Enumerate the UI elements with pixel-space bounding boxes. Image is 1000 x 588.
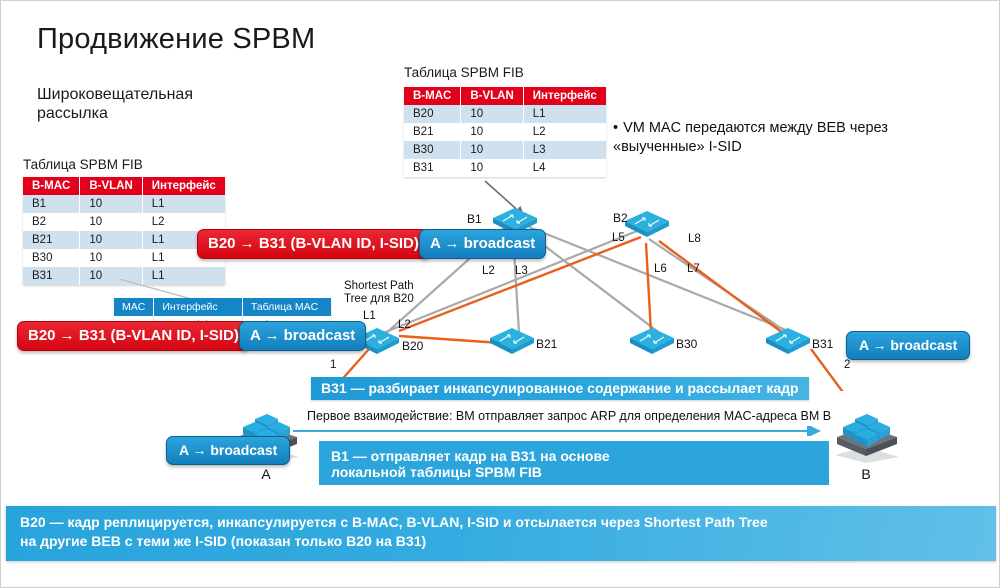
bottom-banner-line-2: на другие BEB с теми же I-SID (показан т…	[20, 532, 982, 551]
node-label-B30: B30	[676, 337, 697, 351]
node-label-B21: B21	[536, 337, 557, 351]
fib-top-header-3: Интерфейс	[523, 87, 606, 105]
table-row: B2010L1	[404, 105, 606, 123]
host-a-label: A	[229, 466, 303, 482]
arrow-a-to-b	[291, 426, 836, 436]
node-label-B1: B1	[467, 212, 482, 226]
banner-b31: B31 — разбирает инкапсулированное содерж…	[311, 377, 809, 400]
fib-top-cell-r2c3: L2	[523, 123, 606, 141]
spt-line-2: Tree для B20	[344, 293, 414, 306]
link-label-L2b: L2	[398, 319, 411, 331]
fib-top-cell-r2c1: B21	[404, 123, 461, 141]
banner-b1-line-1: B1 — отправляет кадр на B31 на основе	[331, 448, 817, 464]
host-b[interactable]: B	[829, 401, 903, 482]
table-row: B3110L4	[404, 159, 606, 177]
link-label-L7: L7	[687, 263, 700, 275]
switch-node-B21[interactable]	[488, 326, 536, 361]
fib-top-cell-r3c3: L3	[523, 141, 606, 159]
link-label-L3: L3	[515, 265, 528, 277]
callout-blue-right[interactable]: A → broadcast	[846, 331, 970, 360]
fib-table-top: B-MACB-VLANИнтерфейсB2010L1B2110L2B3010L…	[404, 87, 606, 177]
fib-top-cell-r1c1: B20	[404, 105, 461, 123]
link-label-L6: L6	[654, 263, 667, 275]
page-subtitle: Широковещательная рассылка	[37, 85, 193, 123]
fib-top-cell-r4c1: B31	[404, 159, 461, 177]
node-label-B20: B20	[402, 339, 423, 353]
table-row: B3010L3	[404, 141, 606, 159]
spt-line-1: Shortest Path	[344, 280, 414, 293]
callout-red-upper[interactable]: B20 → B31 (B-VLAN ID, I-SID)	[197, 229, 430, 259]
banner-b1: B1 — отправляет кадр на B31 на основе ло…	[319, 441, 829, 485]
bottom-banner-line-1: B20 — кадр реплицируется, инкапсулируетс…	[20, 513, 982, 532]
fib-top-cell-r4c2: 10	[461, 159, 523, 177]
table-row: B2110L2	[404, 123, 606, 141]
host-b-label: B	[829, 466, 903, 482]
shortest-path-tree-label: Shortest Path Tree для B20	[344, 280, 414, 306]
switch-node-B30[interactable]	[628, 326, 676, 361]
fib-top-header-row: B-MACB-VLANИнтерфейс	[404, 87, 606, 105]
fib-top-cell-r1c3: L1	[523, 105, 606, 123]
link-label-L2a: L2	[482, 265, 495, 277]
fib-top-cell-r3c2: 10	[461, 141, 523, 159]
fib-top-header-2: B-VLAN	[461, 87, 523, 105]
fib-top-cell-r3c1: B30	[404, 141, 461, 159]
fib-top-header-1: B-MAC	[404, 87, 461, 105]
fib-top-cell-r4c3: L4	[523, 159, 606, 177]
banner-b1-line-2: локальной таблицы SPBM FIB	[331, 464, 817, 480]
bullet-note: •VM MAC передаются между BEB через «выуч…	[613, 119, 913, 157]
bottom-banner: B20 — кадр реплицируется, инкапсулируетс…	[6, 506, 996, 561]
step-number-2: 2	[844, 359, 850, 371]
subtitle-line-1: Широковещательная	[37, 85, 193, 104]
fib-top-cell-r1c2: 10	[461, 105, 523, 123]
fib-top-cell-r2c2: 10	[461, 123, 523, 141]
callout-blue-upper[interactable]: A → broadcast	[419, 229, 546, 259]
fib-table-top-caption: Таблица SPBM FIB	[404, 65, 524, 80]
slide-canvas: Продвижение SPBM Широковещательная рассы…	[0, 0, 1000, 588]
callout-blue-host-a[interactable]: A → broadcast	[166, 436, 290, 465]
bullet-text: VM MAC передаются между BEB через «выуче…	[613, 120, 888, 155]
step-number-1: 1	[330, 359, 336, 371]
subtitle-line-2: рассылка	[37, 104, 193, 123]
switch-node-B2[interactable]	[623, 209, 671, 244]
link-label-L5: L5	[612, 232, 625, 244]
node-label-B31: B31	[812, 337, 833, 351]
link-label-L8: L8	[688, 233, 701, 245]
fib-table-left-caption: Таблица SPBM FIB	[23, 157, 143, 172]
page-title: Продвижение SPBM	[37, 23, 315, 56]
switch-node-B31[interactable]	[764, 326, 812, 361]
bullet-marker: •	[613, 119, 618, 138]
server-icon-b	[829, 401, 903, 463]
callout-red-lower[interactable]: B20 → B31 (B-VLAN ID, I-SID)	[17, 321, 250, 351]
note-first-interaction: Первое взаимодействие: ВМ отправляет зап…	[307, 409, 831, 423]
callout-blue-lower[interactable]: A → broadcast	[239, 321, 366, 351]
node-label-B2: B2	[613, 211, 628, 225]
